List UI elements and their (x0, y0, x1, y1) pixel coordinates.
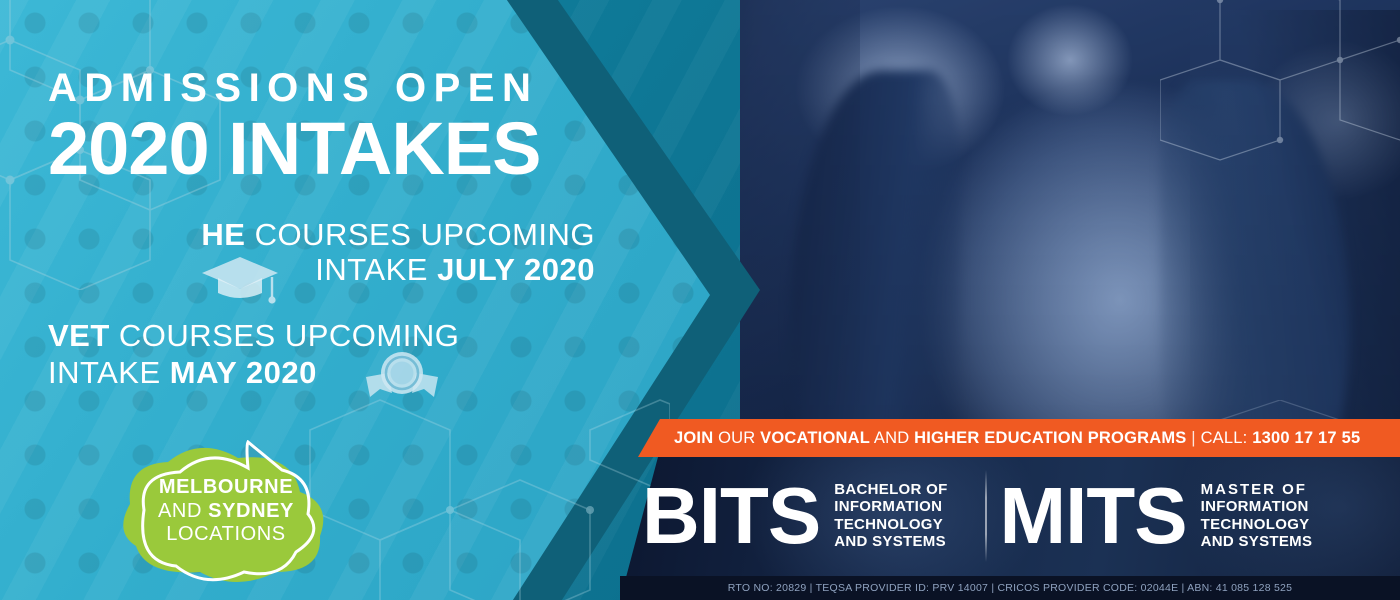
he-intake-prefix: INTAKE (315, 252, 437, 287)
bits-desc-line-2: INFORMATION (834, 498, 947, 515)
locations-sydney: SYDNEY (208, 500, 294, 522)
mits-logo-description: MASTER OF INFORMATION TECHNOLOGY AND SYS… (1201, 481, 1313, 550)
cta-text: JOIN OUR VOCATIONAL AND HIGHER EDUCATION… (674, 429, 1360, 448)
logo-divider (985, 470, 987, 562)
vet-intake-prefix: INTAKE (48, 355, 170, 390)
cta-phone-number[interactable]: 1300 17 17 55 (1252, 429, 1360, 447)
cta-banner-bar[interactable]: JOIN OUR VOCATIONAL AND HIGHER EDUCATION… (638, 419, 1400, 457)
locations-line-2: AND SYDNEY (96, 500, 356, 524)
headline-block: ADMISSIONS OPEN 2020 INTAKES (48, 68, 608, 184)
accreditation-fineprint: RTO NO: 20829 | TEQSA PROVIDER ID: PRV 1… (728, 582, 1293, 594)
mits-desc-line-3: TECHNOLOGY (1201, 516, 1313, 533)
locations-badge: MELBOURNE AND SYDNEY LOCATIONS (96, 440, 356, 590)
vet-courses-line-1: VET COURSES UPCOMING (48, 318, 518, 355)
award-seal-icon (358, 349, 446, 405)
bits-logo[interactable]: BITS BACHELOR OF INFORMATION TECHNOLOGY … (642, 476, 948, 556)
cta-vocational: VOCATIONAL (760, 429, 870, 447)
mits-logo-mark: MITS (1000, 476, 1187, 556)
admissions-banner: ADMISSIONS OPEN 2020 INTAKES HE COURSES … (0, 0, 1400, 600)
cta-our: OUR (713, 429, 760, 447)
graduation-cap-icon (200, 253, 280, 305)
mits-desc-line-2: INFORMATION (1201, 498, 1313, 515)
cta-and: AND (870, 429, 914, 447)
vet-code: VET (48, 318, 110, 353)
vet-intake-date: MAY 2020 (170, 355, 317, 390)
mits-desc-line-1: MASTER OF (1201, 481, 1313, 498)
locations-badge-text: MELBOURNE AND SYDNEY LOCATIONS (96, 476, 356, 547)
locations-and: AND (158, 500, 208, 522)
bits-desc-line-4: AND SYSTEMS (834, 533, 947, 550)
bits-logo-description: BACHELOR OF INFORMATION TECHNOLOGY AND S… (834, 481, 947, 550)
fineprint-bar: RTO NO: 20829 | TEQSA PROVIDER ID: PRV 1… (620, 576, 1400, 600)
he-intake-date: JULY 2020 (437, 252, 595, 287)
bits-desc-line-3: TECHNOLOGY (834, 516, 947, 533)
vet-courses-rest: COURSES UPCOMING (110, 318, 460, 353)
mits-logo[interactable]: MITS MASTER OF INFORMATION TECHNOLOGY AN… (1000, 476, 1313, 556)
he-code: HE (201, 217, 245, 252)
cta-higher-education: HIGHER EDUCATION PROGRAMS (914, 429, 1186, 447)
bits-desc-line-1: BACHELOR OF (834, 481, 947, 498)
he-courses-line-1: HE COURSES UPCOMING (175, 218, 595, 253)
cta-join: JOIN (674, 429, 713, 447)
locations-line-3: LOCATIONS (96, 523, 356, 547)
he-courses-rest: COURSES UPCOMING (245, 217, 595, 252)
cta-separator: | (1187, 429, 1201, 447)
page-title: 2020 INTAKES (48, 114, 608, 184)
vet-courses-line-2: INTAKE MAY 2020 (48, 355, 518, 392)
logos-row: BITS BACHELOR OF INFORMATION TECHNOLOGY … (620, 463, 1400, 568)
eyebrow-text: ADMISSIONS OPEN (48, 68, 608, 108)
cta-call-label: CALL: (1201, 429, 1253, 447)
locations-line-1: MELBOURNE (96, 476, 356, 500)
vet-courses-block: VET COURSES UPCOMING INTAKE MAY 2020 (48, 318, 518, 391)
mits-desc-line-4: AND SYSTEMS (1201, 533, 1313, 550)
bits-logo-mark: BITS (642, 476, 820, 556)
